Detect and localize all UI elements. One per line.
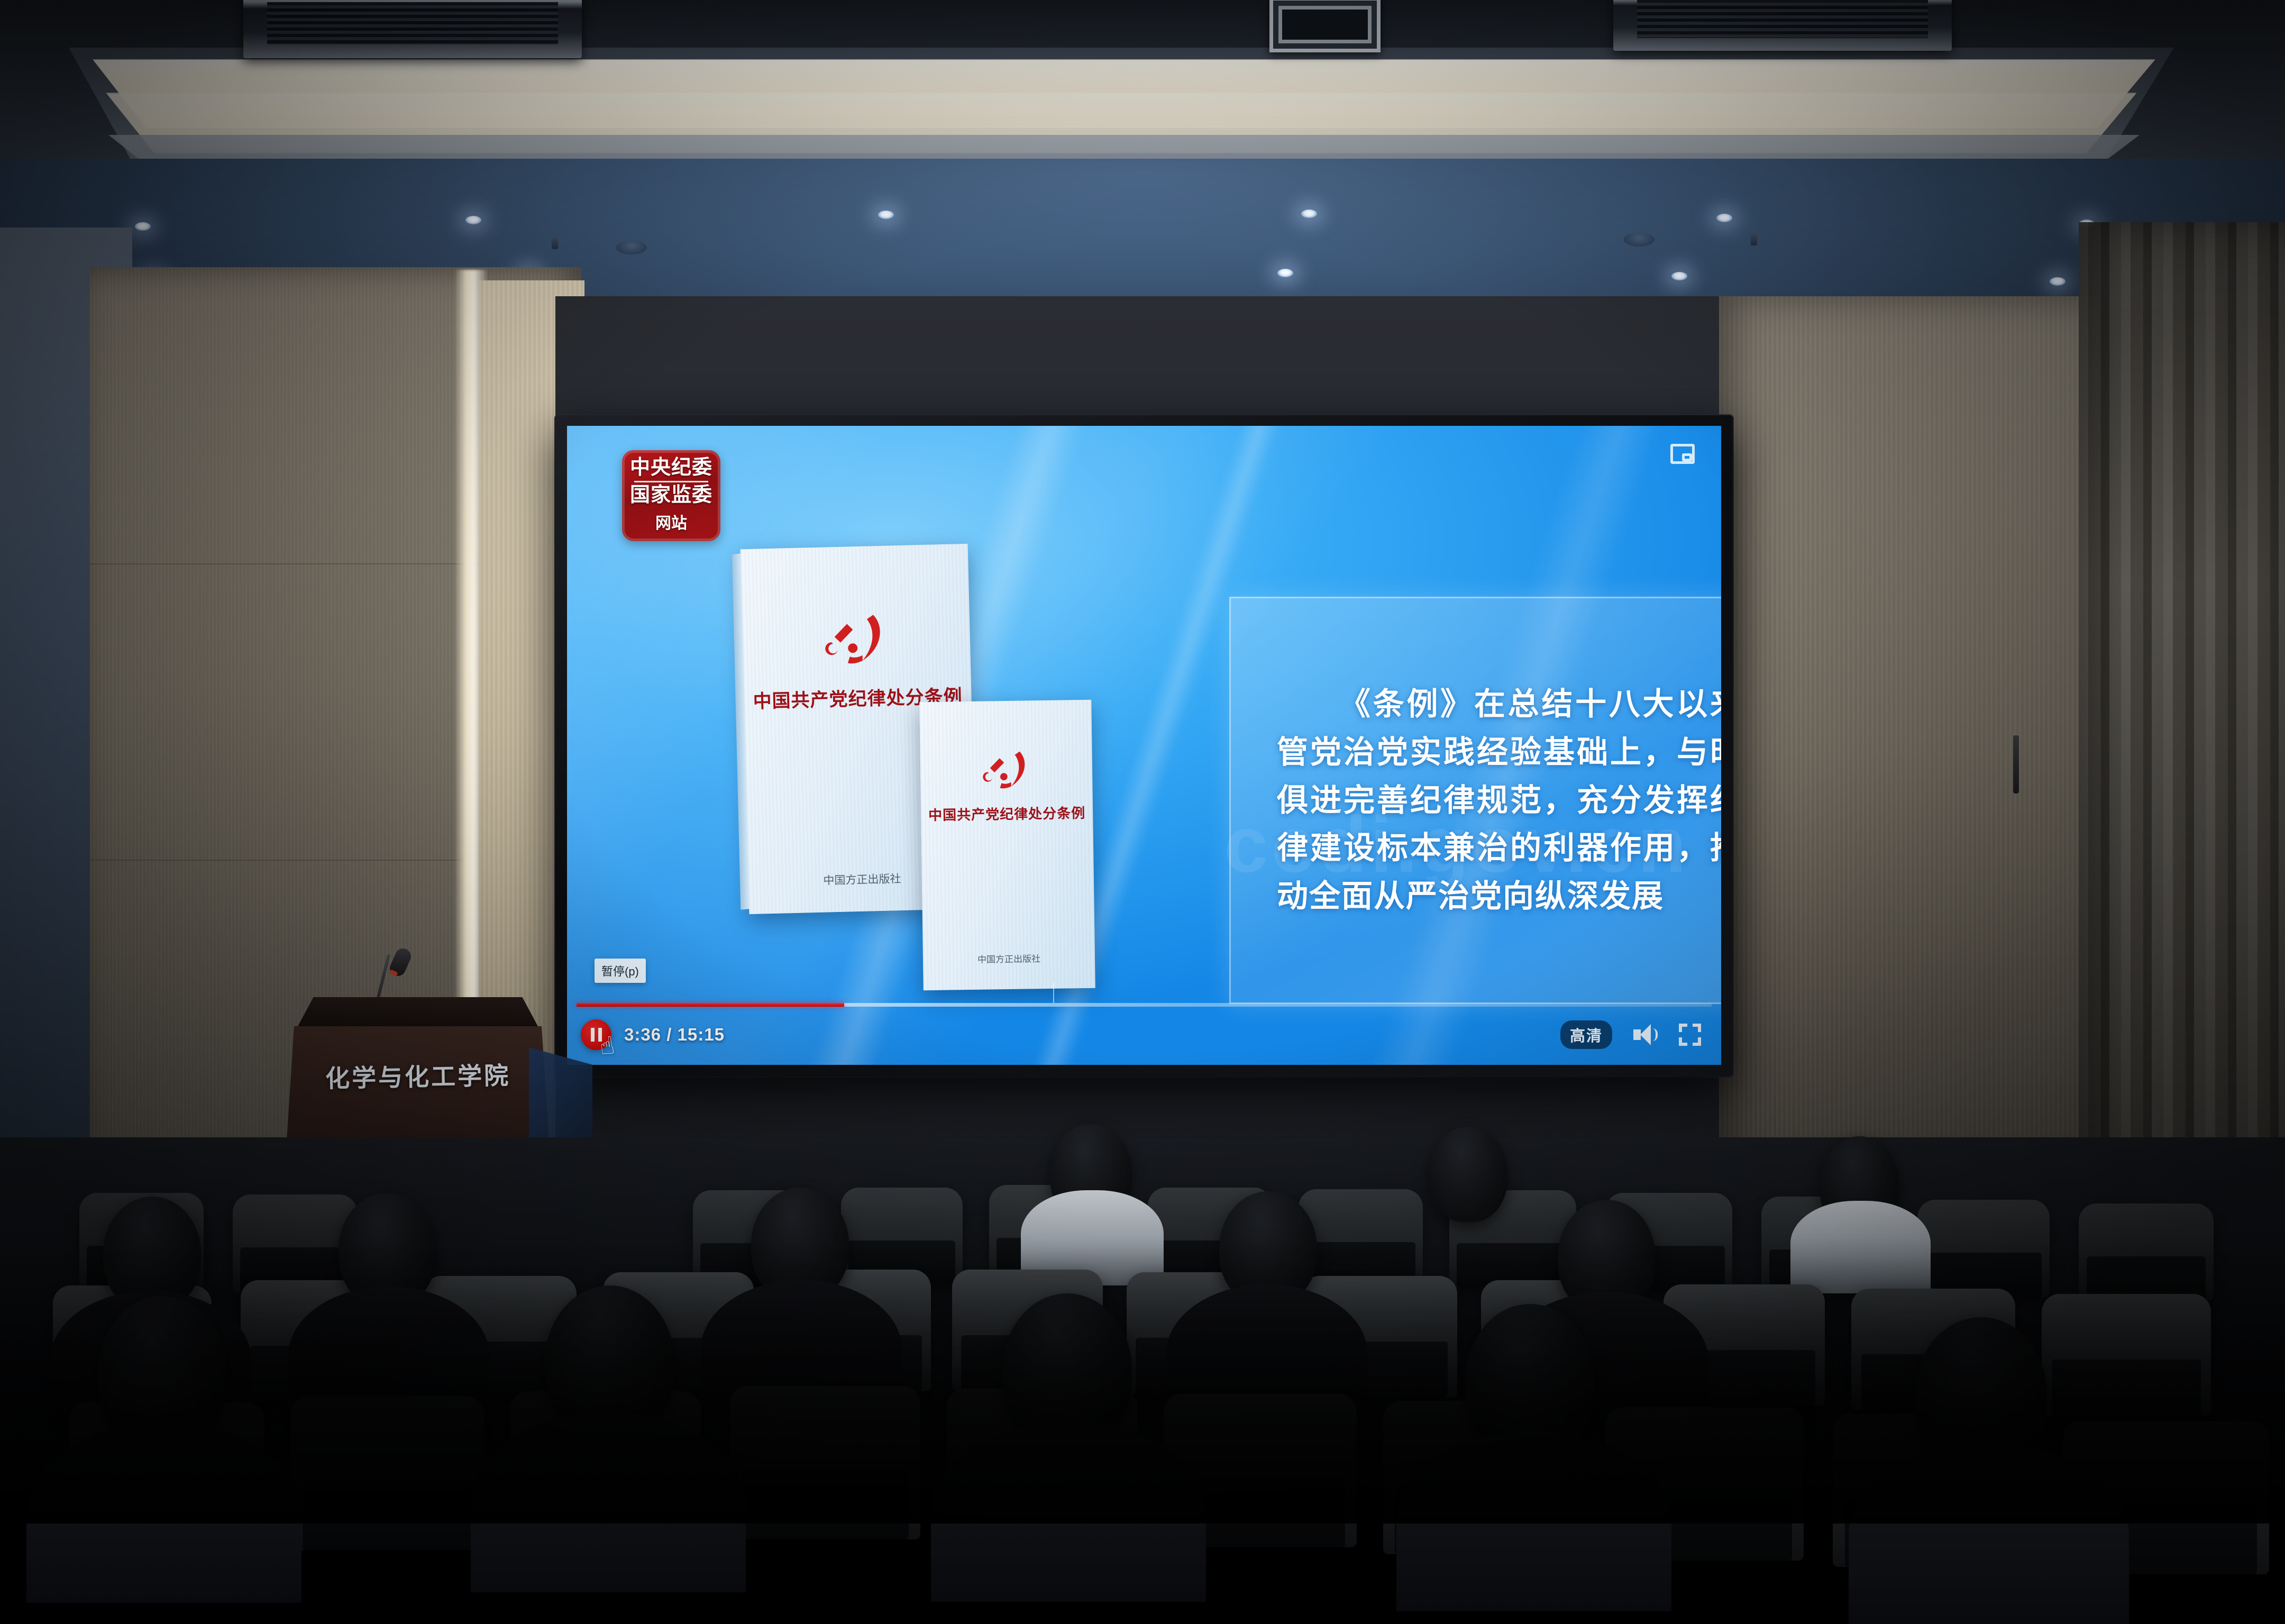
- badge-line-3: 网站: [655, 510, 687, 533]
- pointer-cursor: ☝: [598, 1032, 623, 1062]
- ceiling-downlight: [1277, 269, 1293, 277]
- smoke-detector: [1624, 233, 1655, 247]
- badge-line-1: 中央纪委: [630, 457, 712, 479]
- ceiling-diffuser-vent: [1269, 0, 1381, 52]
- seat[interactable]: [2079, 1203, 2214, 1301]
- video-time-display: 3:36 / 15:15: [624, 1025, 725, 1045]
- ceiling-downlight: [878, 211, 894, 219]
- exit-fullscreen-icon[interactable]: [1679, 1024, 1701, 1046]
- picture-in-picture-icon[interactable]: [1670, 444, 1695, 464]
- ceiling-downlight: [1301, 209, 1317, 218]
- badge-line-2: 国家监委: [630, 485, 712, 506]
- audience-shoulders: [931, 1422, 1206, 1602]
- ceiling-downlight: [1671, 272, 1687, 280]
- seat[interactable]: [291, 1397, 484, 1550]
- smoke-detector: [616, 241, 647, 254]
- ceiling-downlight: [2050, 277, 2065, 286]
- book-publisher: 中国方正出版社: [923, 951, 1095, 966]
- book-cover-small: 中国共产党纪律处分条例 中国方正出版社: [919, 700, 1095, 990]
- seat[interactable]: [1299, 1189, 1423, 1287]
- slide-body-text: 《条例》在总结十八大以来管党治党实践经验基础上，与时俱进完善纪律规范，充分发挥纪…: [1277, 680, 1721, 920]
- presentation-slide: ccdi.gov.cn 中央纪委 国家监委 网站: [567, 426, 1721, 1065]
- air-conditioner-vent: [243, 0, 582, 58]
- quality-badge[interactable]: 高清: [1560, 1020, 1612, 1049]
- ceiling-downlight: [465, 216, 481, 224]
- ceiling-downlight: [135, 222, 151, 231]
- air-conditioner-vent: [1613, 0, 1952, 51]
- volume-icon[interactable]: [1633, 1024, 1658, 1045]
- led-display-bezel: ccdi.gov.cn 中央纪委 国家监委 网站: [555, 415, 1733, 1076]
- book-title: 中国共产党纪律处分条例: [928, 802, 1086, 824]
- video-progress-fill: [577, 1003, 844, 1007]
- sprinkler-head: [552, 235, 558, 249]
- sprinkler-head: [1751, 232, 1757, 245]
- lecture-hall-room: ccdi.gov.cn 中央纪委 国家监委 网站: [0, 0, 2285, 1523]
- seat[interactable]: [2042, 1294, 2211, 1416]
- ceiling-downlight: [1716, 214, 1732, 222]
- audience-shoulders: [1396, 1431, 1671, 1611]
- party-emblem-icon: [920, 746, 1092, 795]
- pause-tooltip: 暂停(p): [595, 959, 646, 983]
- party-emblem-icon: [742, 607, 971, 672]
- seat[interactable]: [730, 1386, 920, 1539]
- audience-shoulders: [1849, 1444, 2129, 1624]
- curtain-shading-overlay: [2079, 222, 2285, 1254]
- slide-text-panel: 《条例》在总结十八大以来管党治党实践经验基础上，与时俱进完善纪律规范，充分发挥纪…: [1229, 597, 1721, 1004]
- led-display-screen[interactable]: ccdi.gov.cn 中央纪委 国家监委 网站: [567, 426, 1721, 1065]
- seat[interactable]: [1917, 1200, 2050, 1298]
- book-spine: [732, 553, 750, 909]
- progress-chapter-marker: [1053, 983, 1054, 1003]
- audience-shoulders: [471, 1412, 746, 1592]
- audience-shirt: [1790, 1201, 1931, 1293]
- right-wood-wall-panel: [1719, 296, 2100, 1206]
- badge-divider: [634, 481, 708, 482]
- video-progress-bar[interactable]: [577, 1003, 1712, 1007]
- audience-shoulders: [26, 1423, 301, 1603]
- podium-label: 化学与化工学院: [280, 1055, 555, 1095]
- door-handle[interactable]: [2013, 735, 2019, 793]
- ccdi-website-badge: 中央纪委 国家监委 网站: [622, 450, 720, 541]
- player-right-controls: 高清: [1560, 1020, 1701, 1049]
- audience-head: [1428, 1127, 1507, 1222]
